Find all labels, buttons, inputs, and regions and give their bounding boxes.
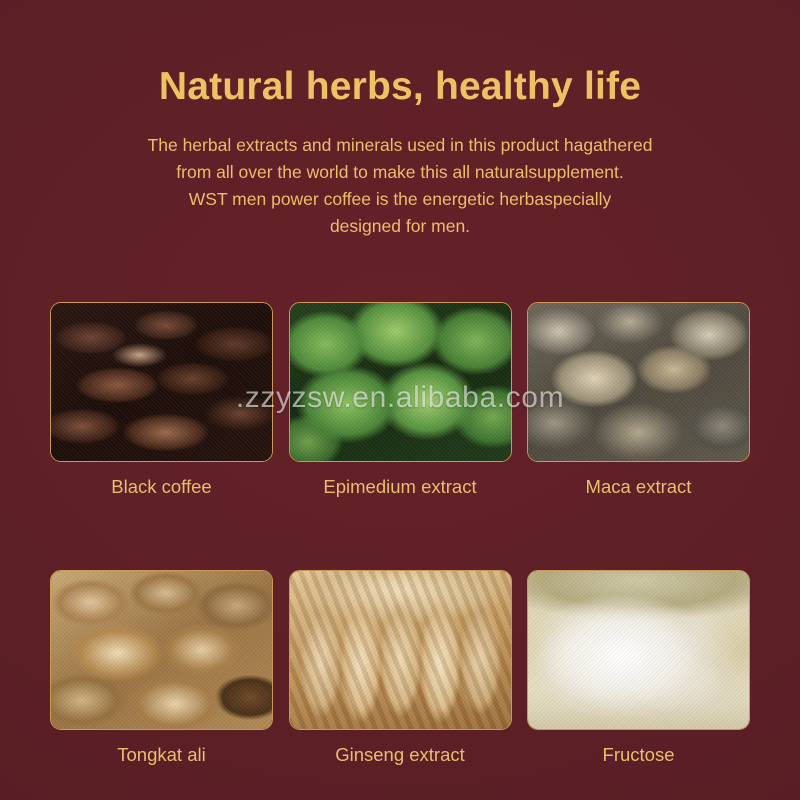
ingredient-caption-black-coffee: Black coffee xyxy=(50,476,273,498)
ingredient-caption-ginseng-extract: Ginseng extract xyxy=(289,744,512,766)
intro-paragraph-line-1: The herbal extracts and minerals used in… xyxy=(100,132,700,159)
ginseng-roots-photo xyxy=(290,571,511,729)
ingredient-grid: Black coffee Epimedium extract Maca extr… xyxy=(50,302,750,766)
intro-paragraph: The herbal extracts and minerals used in… xyxy=(100,132,700,240)
ingredient-thumbnail-ginseng-extract xyxy=(289,570,512,730)
ingredient-card-epimedium-extract: Epimedium extract xyxy=(289,302,512,498)
ingredient-caption-tongkat-ali: Tongkat ali xyxy=(50,744,273,766)
page-title: Natural herbs, healthy life xyxy=(0,66,800,109)
intro-paragraph-line-4: designed for men. xyxy=(100,213,700,240)
epimedium-leaves-photo xyxy=(290,303,511,461)
ingredient-caption-epimedium-extract: Epimedium extract xyxy=(289,476,512,498)
ingredient-thumbnail-fructose xyxy=(527,570,750,730)
ingredient-card-black-coffee: Black coffee xyxy=(50,302,273,498)
ingredient-caption-fructose: Fructose xyxy=(527,744,750,766)
fructose-powder-photo xyxy=(528,571,749,729)
intro-paragraph-line-3: WST men power coffee is the energetic he… xyxy=(100,186,700,213)
intro-paragraph-line-2: from all over the world to make this all… xyxy=(100,159,700,186)
ingredient-card-ginseng-extract: Ginseng extract xyxy=(289,570,512,766)
ingredient-card-tongkat-ali: Tongkat ali xyxy=(50,570,273,766)
tongkat-ali-slices-photo xyxy=(51,571,272,729)
ingredient-thumbnail-tongkat-ali xyxy=(50,570,273,730)
product-info-poster: Natural herbs, healthy life The herbal e… xyxy=(0,0,800,800)
ingredient-card-maca-extract: Maca extract xyxy=(527,302,750,498)
ingredient-caption-maca-extract: Maca extract xyxy=(527,476,750,498)
ingredient-thumbnail-epimedium-extract xyxy=(289,302,512,462)
ingredient-thumbnail-maca-extract xyxy=(527,302,750,462)
black-coffee-beans-photo xyxy=(51,303,272,461)
dried-maca-roots-photo xyxy=(528,303,749,461)
ingredient-card-fructose: Fructose xyxy=(527,570,750,766)
ingredient-thumbnail-black-coffee xyxy=(50,302,273,462)
